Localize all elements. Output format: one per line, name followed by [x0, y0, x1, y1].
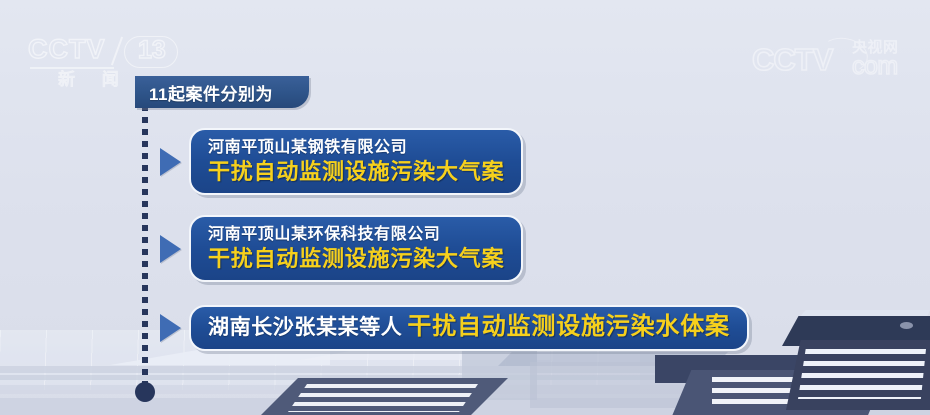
case-subject-2: 河南平顶山某环保科技有限公司	[208, 224, 504, 245]
cctv13-logo-number: 13	[138, 36, 166, 65]
cctv-com-watermark: CCTV 央视网 com	[752, 36, 922, 80]
case-card-1[interactable]: 河南平顶山某钢铁有限公司 干扰自动监测设施污染大气案	[189, 128, 523, 195]
case-row-3[interactable]: 湖南长沙张某某等人 干扰自动监测设施污染水体案	[160, 305, 749, 351]
case-row-2[interactable]: 河南平顶山某环保科技有限公司 干扰自动监测设施污染大气案	[160, 215, 523, 282]
case-card-2[interactable]: 河南平顶山某环保科技有限公司 干扰自动监测设施污染大气案	[189, 215, 523, 282]
header-title: 11起案件分别为	[149, 80, 273, 105]
case-charge-1: 干扰自动监测设施污染大气案	[208, 158, 504, 185]
case-subject-1: 河南平顶山某钢铁有限公司	[208, 137, 504, 158]
building-right-detail	[900, 322, 913, 329]
cctv13-logo-underline	[30, 67, 114, 69]
building-center	[258, 378, 508, 415]
cctv-com-suffix: com	[852, 52, 898, 81]
broadcast-graphic-screen: CCTV 13 新 闻 CCTV 央视网 com 11起案件分别为 河南平顶山某…	[0, 0, 930, 415]
case-card-3[interactable]: 湖南长沙张某某等人 干扰自动监测设施污染水体案	[189, 305, 749, 351]
building-right-bottom	[786, 340, 930, 410]
triangle-arrow-icon	[160, 148, 181, 176]
case-charge-3: 干扰自动监测设施污染水体案	[407, 313, 729, 341]
triangle-arrow-icon	[160, 235, 181, 263]
header-banner: 11起案件分别为	[135, 76, 309, 108]
case-row-1[interactable]: 河南平顶山某钢铁有限公司 干扰自动监测设施污染大气案	[160, 128, 523, 195]
timeline-end-dot	[135, 382, 155, 402]
timeline-dotted-line	[142, 105, 148, 385]
triangle-arrow-icon	[160, 314, 181, 342]
case-subject-3: 湖南长沙张某某等人	[208, 314, 402, 342]
case-charge-2: 干扰自动监测设施污染大气案	[208, 245, 504, 272]
